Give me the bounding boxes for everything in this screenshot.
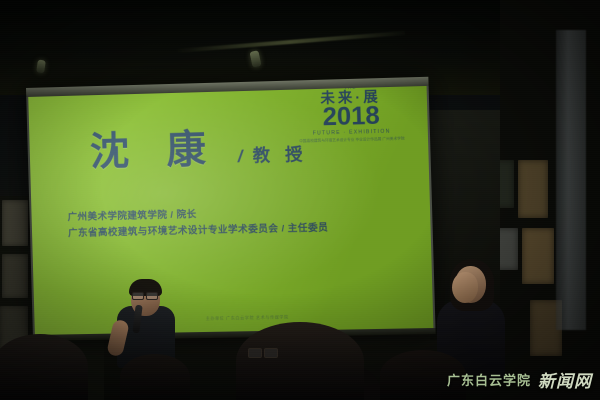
logo-year: 2018 xyxy=(293,104,409,130)
slide-speaker-title: /教 授 xyxy=(237,140,308,167)
title-slash: / xyxy=(237,146,247,165)
moderator-face xyxy=(452,272,478,303)
watermark-institution: 广东白云学院 xyxy=(447,370,531,389)
glasses-icon xyxy=(132,292,158,298)
wall-column xyxy=(556,30,586,330)
slide-speaker-name: 沈 康 xyxy=(89,130,219,172)
photo-scene: THE 未来·展 2018 FUTURE · EXHIBITION 中国高校建筑… xyxy=(0,0,600,400)
slide-affiliation-2: 广东省高校建筑与环境艺术设计专业学术委员会 / 主任委员 xyxy=(68,219,329,239)
audience-head xyxy=(236,322,364,400)
projection-screen: THE 未来·展 2018 FUTURE · EXHIBITION 中国高校建筑… xyxy=(26,77,436,340)
slide-surface: THE 未来·展 2018 FUTURE · EXHIBITION 中国高校建筑… xyxy=(28,86,433,335)
audience-head xyxy=(120,354,190,400)
slide-footnote: 主办单位 广东白云学院 艺术与传媒学院 xyxy=(206,314,289,322)
title-text: 教 授 xyxy=(252,145,307,166)
watermark-site: 新闻网 xyxy=(538,367,592,392)
watermark: 广东白云学院 新闻网 xyxy=(447,367,592,392)
event-logo: THE 未来·展 2018 FUTURE · EXHIBITION 中国高校建筑… xyxy=(293,86,410,145)
glasses-icon xyxy=(248,348,278,356)
audience-head xyxy=(0,334,88,400)
slide-affiliation-1: 广州美术学院建筑学院 / 院长 xyxy=(67,206,196,223)
logo-small-print: 中国高校建筑与环境艺术设计专业 毕业设计作品展 广州美术学院 xyxy=(294,137,409,145)
